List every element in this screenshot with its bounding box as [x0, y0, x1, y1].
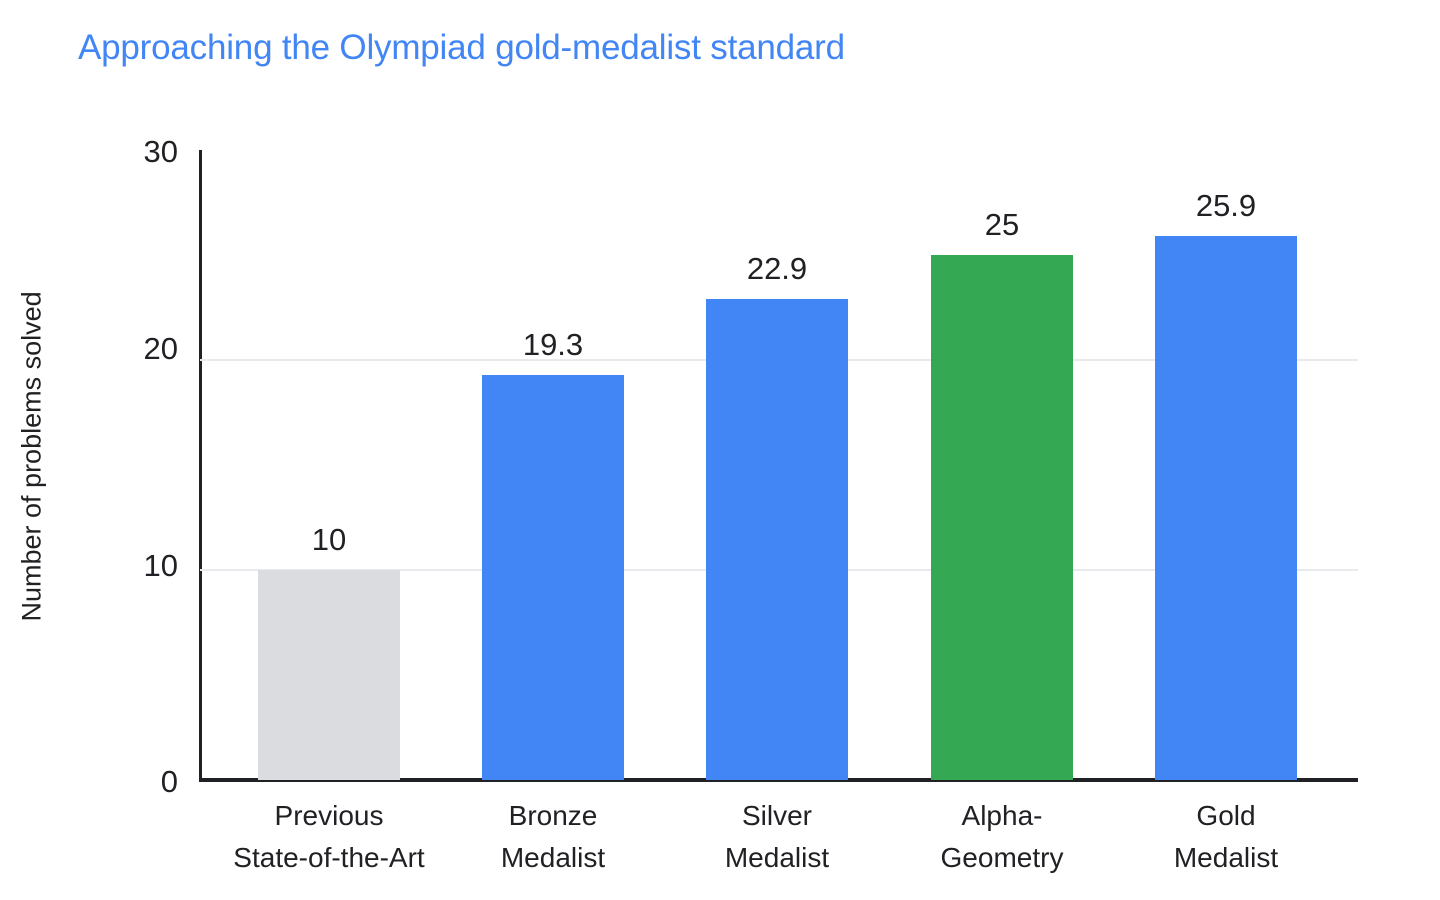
- x-axis-label-gold-medalist: Gold Medalist: [1086, 795, 1366, 879]
- chart-page: Approaching the Olympiad gold-medalist s…: [0, 0, 1440, 900]
- page-title: Approaching the Olympiad gold-medalist s…: [78, 26, 845, 70]
- y-tick-label-30: 30: [108, 136, 178, 167]
- x-axis-label-line-1: Alpha-: [962, 800, 1043, 831]
- y-tick-label-20: 20: [108, 333, 178, 364]
- plot-area: 10 19.3 22.9 25 25.9: [200, 150, 1358, 780]
- bar-alpha-geometry[interactable]: [931, 255, 1073, 780]
- bar-value-silver-medalist: 22.9: [706, 253, 848, 284]
- x-axis-label-line-1: Gold: [1196, 800, 1255, 831]
- bar-value-bronze-medalist: 19.3: [482, 329, 624, 360]
- bar-previous-state-of-the-art[interactable]: [258, 570, 400, 780]
- y-axis-tick-labels: 30 20 10 0: [108, 0, 178, 900]
- x-axis-label-line-1: Silver: [742, 800, 812, 831]
- x-axis-label-line-2: Medalist: [1086, 837, 1366, 879]
- x-axis-label-line-1: Previous: [275, 800, 384, 831]
- bar-gold-medalist[interactable]: [1155, 236, 1297, 780]
- bar-bronze-medalist[interactable]: [482, 375, 624, 780]
- bar-value-alpha-geometry: 25: [931, 209, 1073, 240]
- bar-silver-medalist[interactable]: [706, 299, 848, 780]
- y-axis-title: Number of problems solved: [19, 302, 46, 622]
- x-axis-label-line-1: Bronze: [509, 800, 598, 831]
- y-tick-label-10: 10: [108, 550, 178, 581]
- bar-value-gold-medalist: 25.9: [1155, 190, 1297, 221]
- y-tick-label-0: 0: [108, 766, 178, 797]
- bar-value-previous-state-of-the-art: 10: [258, 524, 400, 555]
